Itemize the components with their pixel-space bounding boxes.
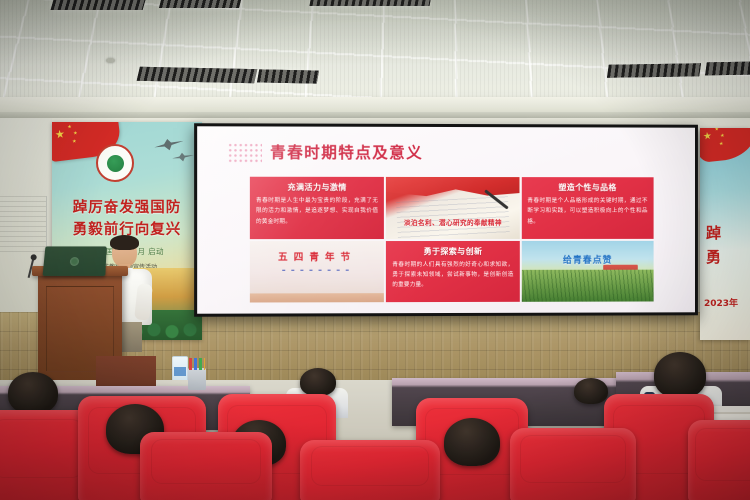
card-body: 青春时期的人们具有强烈的好奇心和求知欲，勇于探索未知领域，尝试新事物，是创新创造… — [392, 259, 513, 290]
auditorium-seat — [300, 440, 440, 500]
slide-card-character: 塑造个性与品格 青春时期是个人品格形成的关键时期，通过不断学习和实践，可以塑造积… — [521, 177, 653, 238]
attendee-head — [654, 352, 706, 398]
attendee-head — [574, 378, 608, 404]
slide-photo-research: 淡泊名利、潜心研究的奉献精神 — [386, 177, 519, 239]
laptop-on-podium[interactable] — [43, 246, 107, 276]
slide-canvas: 青春时期特点及意义 充满活力与激情 青春时期是人生中最为宝贵的阶段，充满了无限的… — [197, 126, 695, 313]
slide-card-vitality: 充满活力与激情 青春时期是人生中最为宝贵的阶段，充满了无限的活力和激情，是追逐梦… — [250, 177, 384, 239]
ceiling-light-fixture — [137, 67, 258, 83]
china-flag-icon — [700, 128, 750, 163]
ceiling-light-fixture — [51, 0, 146, 10]
ground-graphic — [250, 294, 384, 303]
dot-grid-icon — [228, 142, 262, 164]
ceiling-light-fixture — [705, 62, 750, 76]
slide-title: 青春时期特点及意义 — [270, 141, 423, 163]
card-body: 青春时期是个人品格形成的关键时期，通过不断学习和实践，可以塑造积极向上的个性和品… — [527, 196, 647, 227]
right-banner-year: 2023年 — [704, 296, 738, 309]
fighter-jet-icon — [153, 135, 185, 154]
attendee-head — [8, 372, 58, 414]
fighter-jet-icon — [171, 151, 194, 164]
school-emblem-icon — [96, 144, 134, 182]
ceiling-light-fixture — [257, 69, 319, 83]
slide-card-explore: 勇于探索与创新 青春时期的人们具有强烈的好奇心和求知欲，勇于探索未知领域，尝试新… — [386, 240, 519, 302]
card-body: 青春时期是人生中最为宝贵的阶段，充满了无限的活力和激情，是追逐梦想、实现自我价值… — [256, 196, 378, 227]
attendee-head — [444, 418, 500, 466]
photo-overlay-text: 给青春点赞 — [521, 253, 653, 266]
auditorium-scene: 踔厉奋发强国防 勇毅前行向复兴 全民国防教育月 启动 国防教育主题宣传活动 踔 … — [0, 0, 750, 500]
right-banner: 踔 勇 2023年 — [700, 128, 750, 340]
slide-photo-field: 给青春点赞 — [521, 240, 653, 301]
decorative-dots — [280, 268, 355, 272]
auditorium-seat — [688, 420, 750, 500]
air-conditioner-unit — [0, 196, 47, 256]
ceiling-light-fixture — [309, 0, 430, 6]
card-title: 塑造个性与品格 — [521, 182, 653, 193]
smoke-detector-icon — [106, 58, 115, 63]
slide-photo-youth-day: 五四青年节 — [250, 241, 384, 303]
photo-overlay-text: 淡泊名利、潜心研究的奉献精神 — [386, 217, 519, 227]
right-banner-line2: 勇 — [706, 246, 721, 267]
banner-headline-line1: 踔厉奋发强国防 — [52, 196, 202, 217]
led-display-screen[interactable]: 青春时期特点及意义 充满活力与激情 青春时期是人生中最为宝贵的阶段，充满了无限的… — [194, 123, 698, 317]
ceiling-light-fixture — [607, 63, 701, 78]
grass-graphic — [521, 270, 653, 302]
laptop-logo-icon — [70, 257, 80, 266]
card-title: 充满活力与激情 — [250, 182, 384, 193]
slide-card-grid: 充满活力与激情 青春时期是人生中最为宝贵的阶段，充满了无限的活力和激情，是追逐梦… — [250, 177, 654, 303]
presenter-hair — [110, 235, 139, 250]
attendee-head — [300, 368, 336, 396]
photo-overlay-text: 五四青年节 — [250, 249, 384, 263]
auditorium-seat — [140, 432, 272, 500]
pencil-cup — [188, 368, 206, 390]
auditorium-seat — [510, 428, 636, 500]
card-title: 勇于探索与创新 — [386, 245, 519, 256]
right-banner-line1: 踔 — [706, 222, 721, 243]
ceiling-light-fixture — [159, 0, 241, 8]
